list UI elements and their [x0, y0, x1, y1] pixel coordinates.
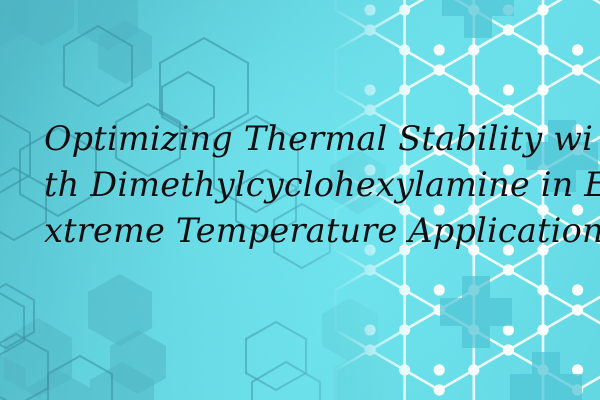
banner-image: Optimizing Thermal Stability wi th Dimet…	[0, 0, 600, 400]
medical-cross-icon	[510, 352, 582, 400]
medical-cross-icon	[440, 276, 512, 348]
title-line-1: Optimizing Thermal Stability wi	[44, 116, 564, 162]
title-line-3: xtreme Temperature Applications	[44, 208, 564, 254]
banner-title: Optimizing Thermal Stability wi th Dimet…	[44, 116, 564, 254]
title-line-2: th Dimethylcyclohexylamine in E	[44, 162, 564, 208]
medical-cross-icon	[442, 0, 514, 38]
